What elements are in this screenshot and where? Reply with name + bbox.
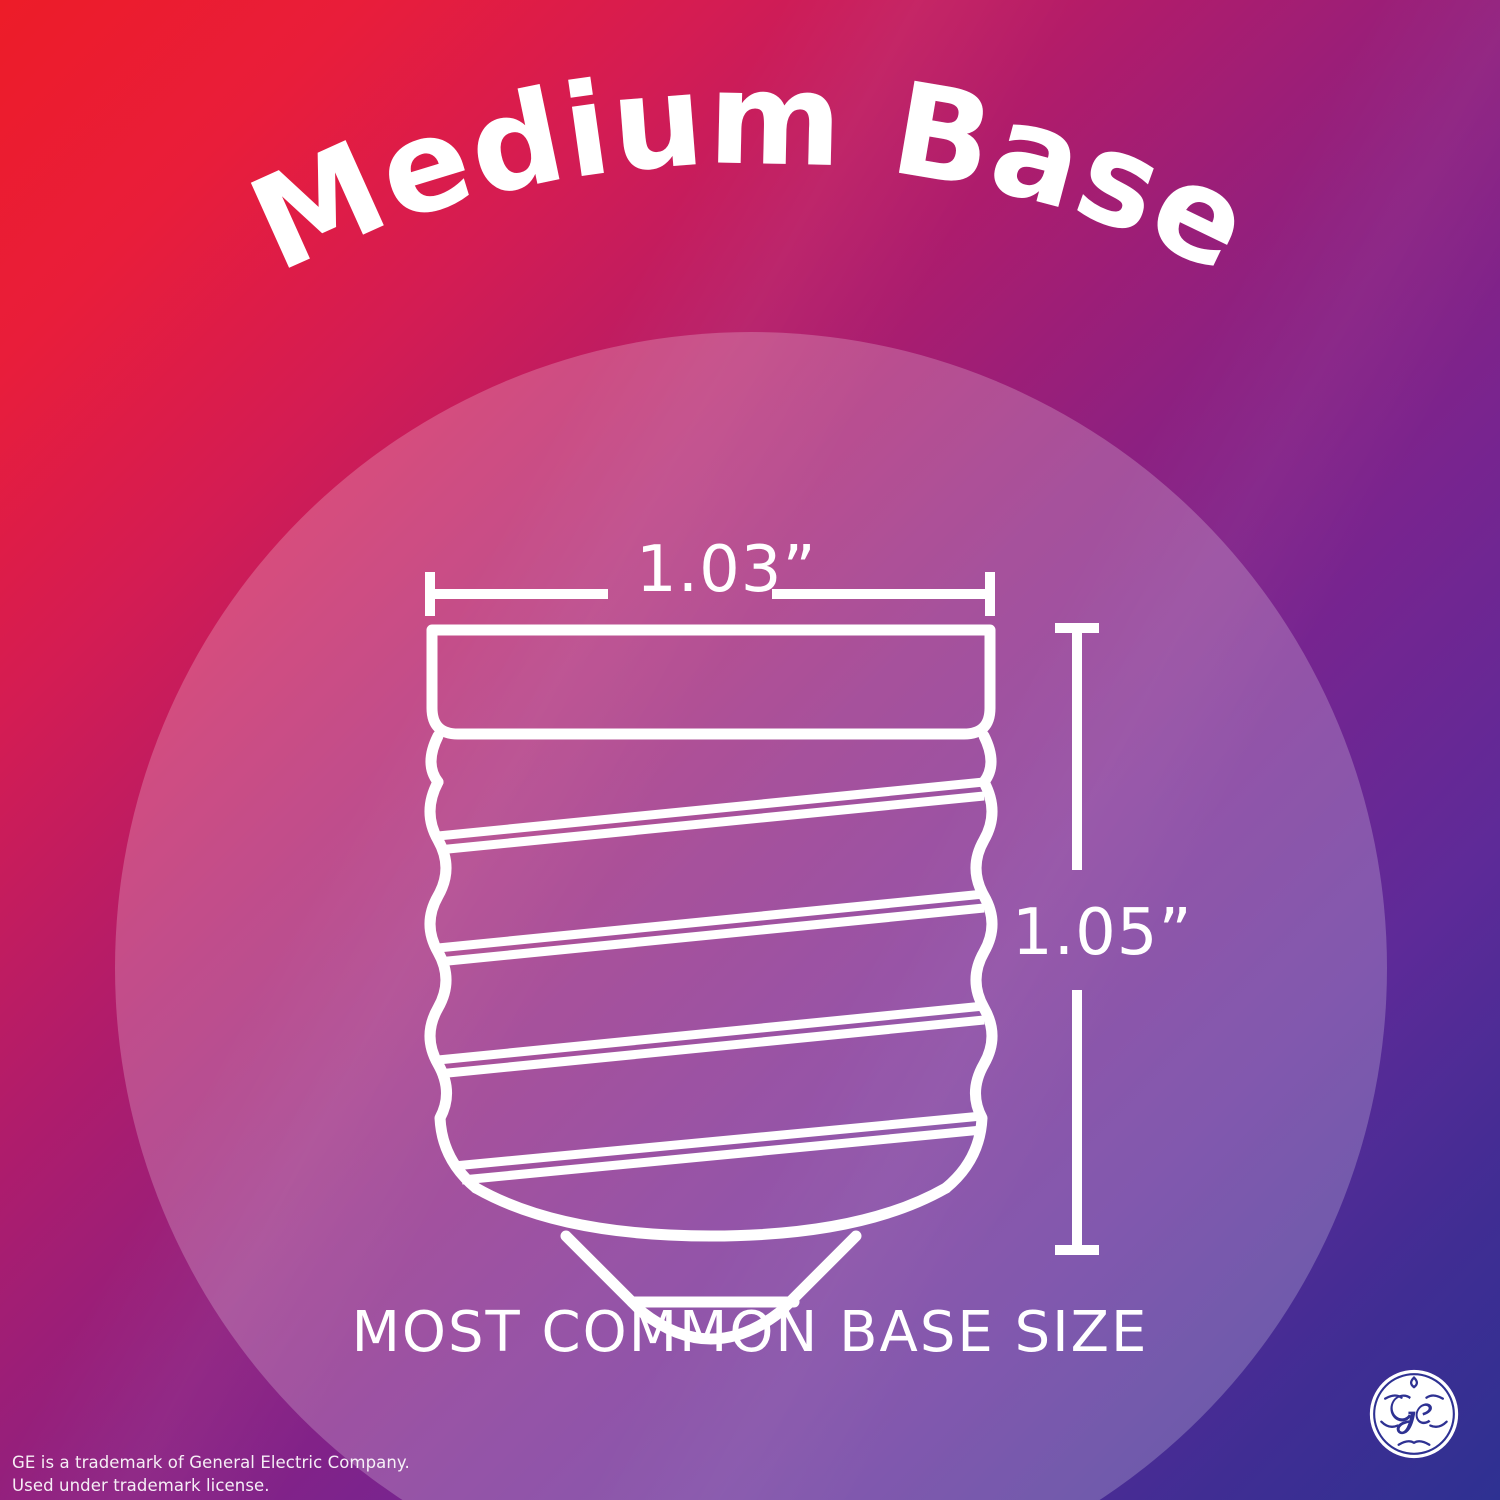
base-collar-outline [432, 630, 990, 734]
base-bottom-curve [476, 1188, 946, 1236]
width-dimension-label: 1.03” [636, 533, 817, 607]
product-infographic: Medium Base [0, 0, 1500, 1500]
thread-helix-lines [438, 782, 984, 1180]
ge-logo-icon [1366, 1366, 1462, 1462]
base-collar-thread-transition [431, 736, 438, 782]
page-title: Medium Base [0, 0, 1500, 420]
legal-trademark-notice: GE is a trademark of General Electric Co… [12, 1451, 410, 1498]
page-title-text: Medium Base [230, 44, 1272, 302]
legal-line-1: GE is a trademark of General Electric Co… [12, 1451, 410, 1474]
height-dimension-label: 1.05” [1012, 896, 1193, 970]
base-collar-thread-transition-right [984, 736, 991, 782]
caption-text: MOST COMMON BASE SIZE [0, 1300, 1500, 1365]
page-title-label: Medium Base [230, 44, 1272, 302]
legal-line-2: Used under trademark license. [12, 1474, 410, 1497]
